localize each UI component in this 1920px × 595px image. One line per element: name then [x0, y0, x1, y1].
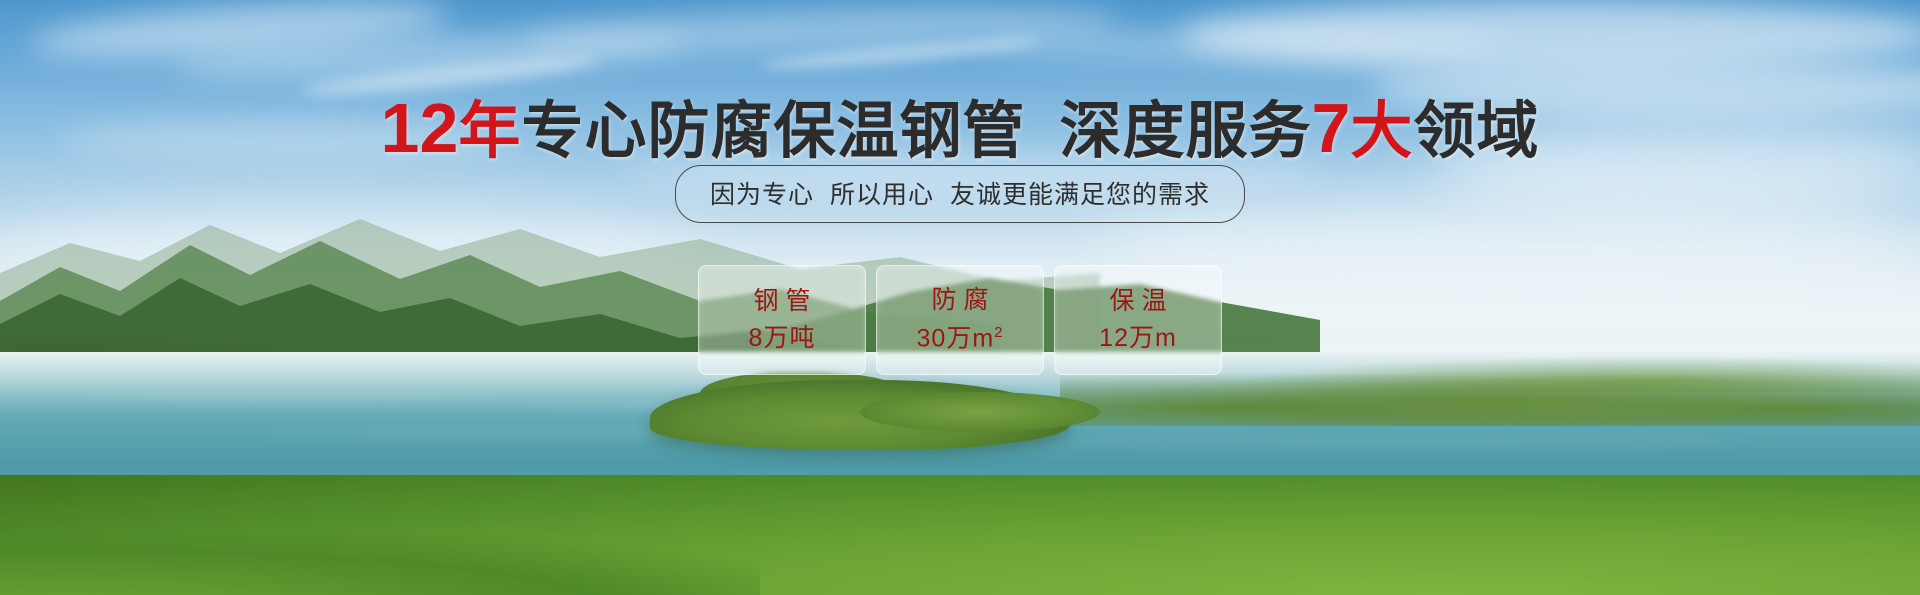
- headline-fields-unit: 大: [1350, 97, 1413, 166]
- promo-banner: 12年专心防腐保温钢管深度服务7大领域 因为专心所以用心友诚更能满足您的需求 钢…: [0, 0, 1920, 595]
- stat-card-steel-pipe: 钢管 8万吨: [698, 265, 866, 375]
- stats-card-group: 钢管 8万吨 防腐 30万m2 保温 12万m: [0, 265, 1920, 375]
- subtitle-part-2: 所以用心: [830, 181, 934, 209]
- stat-value-number: 8: [749, 324, 764, 352]
- headline-fields-text: 领域: [1413, 97, 1539, 166]
- stat-value-unit: 万吨: [763, 324, 815, 352]
- subtitle-part-3: 友诚更能满足您的需求: [950, 181, 1210, 209]
- headline-years-number: 12: [381, 89, 459, 167]
- stat-card-insulation: 保温 12万m: [1054, 265, 1222, 375]
- stat-card-label: 防腐: [924, 288, 995, 313]
- headline-main-text: 专心防腐保温钢管: [521, 97, 1025, 166]
- banner-content: 12年专心防腐保温钢管深度服务7大领域 因为专心所以用心友诚更能满足您的需求 钢…: [0, 0, 1920, 595]
- subtitle-pill: 因为专心所以用心友诚更能满足您的需求: [675, 165, 1245, 223]
- stat-value-unit: 万m: [946, 325, 994, 353]
- stat-value-number: 12: [1099, 324, 1129, 352]
- stat-card-label: 保温: [1102, 289, 1173, 314]
- subtitle-container: 因为专心所以用心友诚更能满足您的需求: [0, 165, 1920, 223]
- headline: 12年专心防腐保温钢管深度服务7大领域: [0, 80, 1920, 170]
- headline-fields-number: 7: [1311, 89, 1350, 167]
- stat-card-value: 8万吨: [749, 326, 816, 351]
- headline-years-unit: 年: [458, 97, 521, 166]
- stat-value-unit: 万m: [1129, 324, 1177, 352]
- stat-card-label: 钢管: [746, 289, 817, 314]
- subtitle-part-1: 因为专心: [710, 181, 814, 209]
- stat-card-value: 30万m2: [917, 325, 1004, 351]
- stat-card-anticorrosion: 防腐 30万m2: [876, 265, 1044, 375]
- stat-value-number: 30: [917, 325, 947, 353]
- stat-card-value: 12万m: [1099, 326, 1177, 351]
- headline-service-text: 深度服务: [1059, 97, 1311, 166]
- stat-value-exponent: 2: [994, 324, 1003, 341]
